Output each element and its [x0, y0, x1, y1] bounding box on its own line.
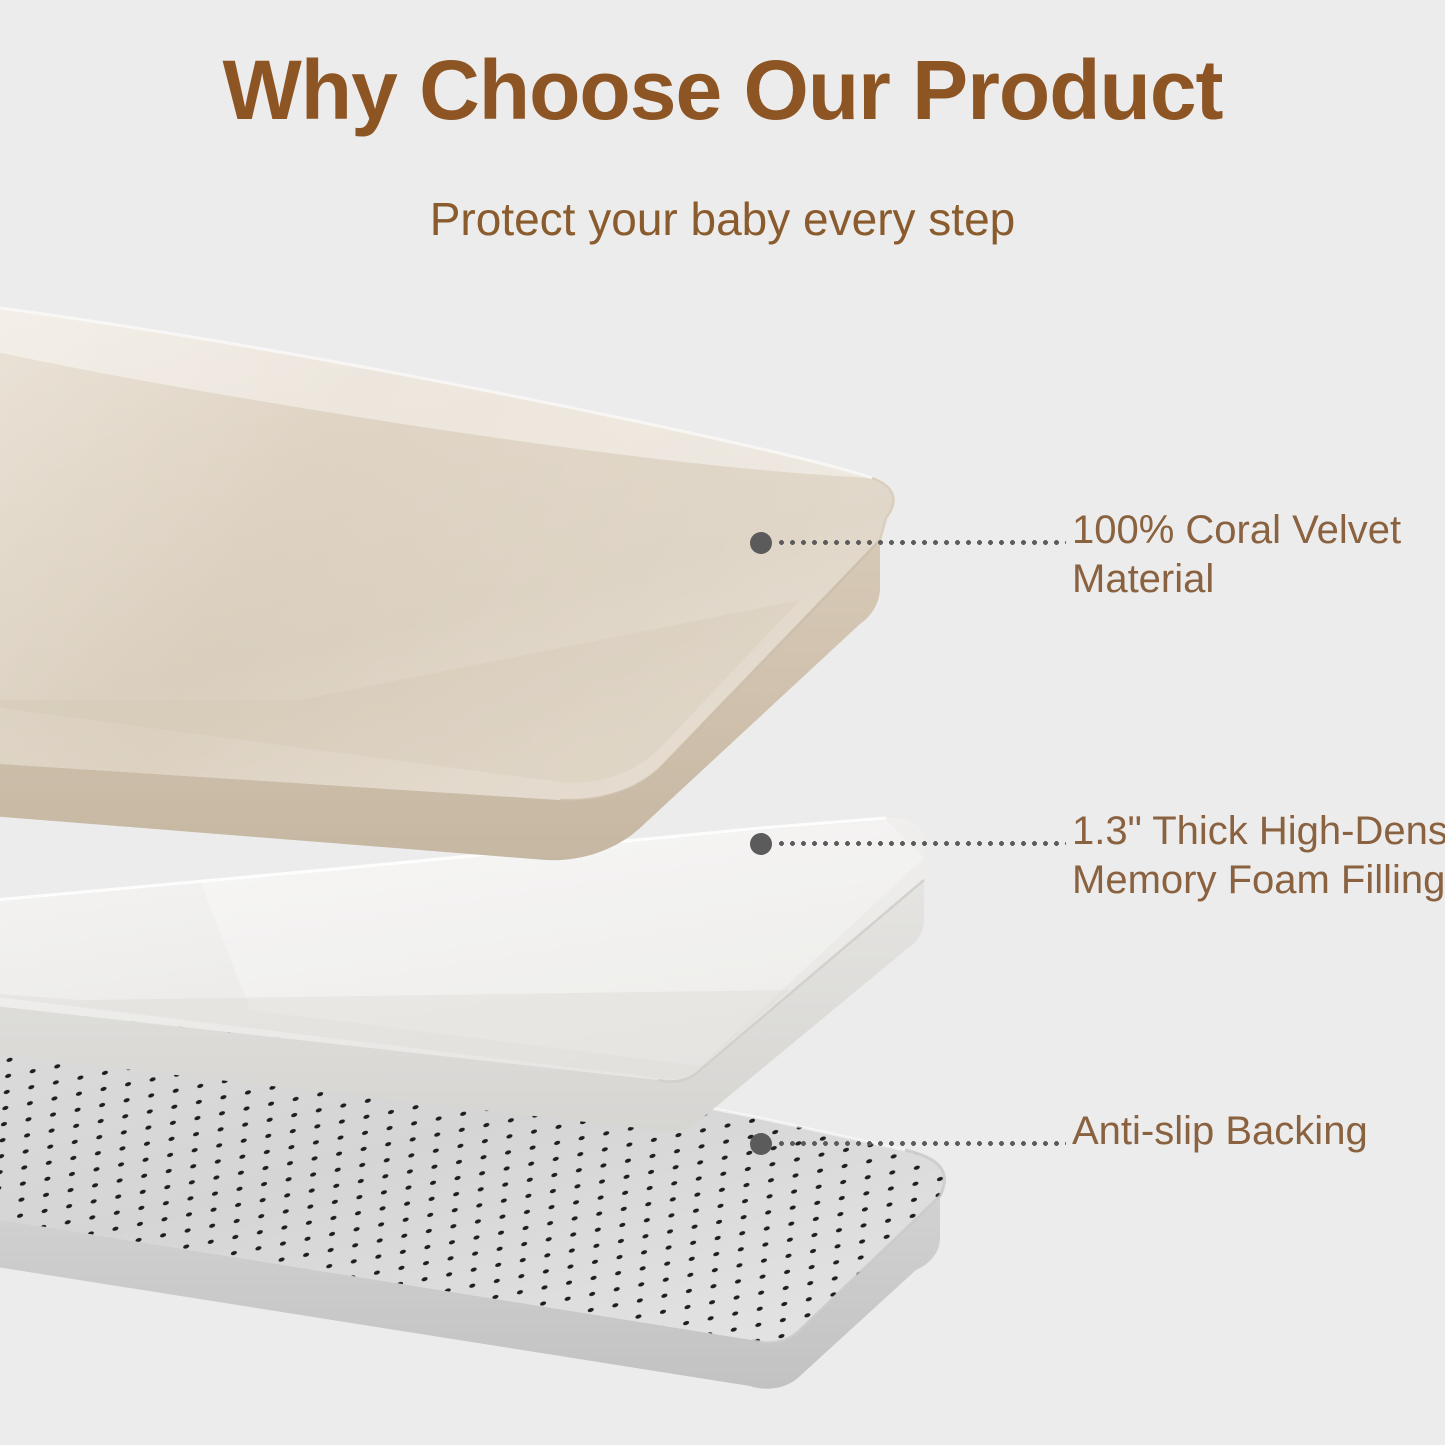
- callout-label-coral-velvet: 100% Coral Velvet Material: [1072, 506, 1445, 604]
- callout-label-anti-slip: Anti-slip Backing: [1072, 1107, 1445, 1156]
- dotted-leader-line: [776, 1141, 1066, 1146]
- page-title: Why Choose Our Product: [0, 48, 1445, 132]
- dotted-leader-line: [776, 841, 1066, 846]
- dot-marker-icon: [750, 833, 772, 855]
- velvet-cover-layer: [0, 300, 894, 860]
- dotted-leader-line: [776, 540, 1066, 545]
- dot-marker-icon: [750, 532, 772, 554]
- dot-marker-icon: [750, 1133, 772, 1155]
- page-subtitle: Protect your baby every step: [0, 196, 1445, 242]
- infographic-canvas: Why Choose Our Product Protect your baby…: [0, 0, 1445, 1445]
- callout-label-memory-foam: 1.3" Thick High-Density Memory Foam Fill…: [1072, 807, 1445, 905]
